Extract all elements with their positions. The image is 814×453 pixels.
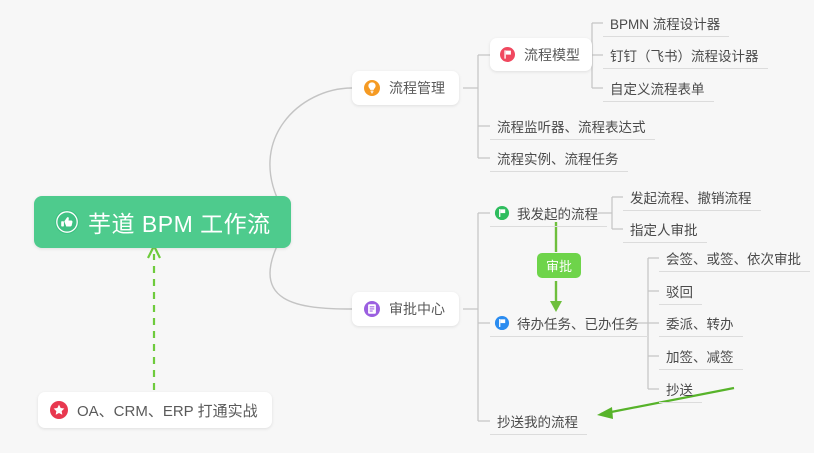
annotation-badge-label: 审批 [546, 256, 572, 275]
leaf-custom-form[interactable]: 自定义流程表单 [603, 74, 714, 102]
leaf-label: 流程实例、流程任务 [497, 148, 619, 168]
branch-approval-center[interactable]: 审批中心 [352, 292, 459, 326]
leaf-label: 驳回 [666, 281, 693, 301]
leaf-countersign[interactable]: 会签、或签、依次审批 [659, 244, 810, 272]
leaf-label: 自定义流程表单 [610, 78, 705, 98]
leaf-dingtalk-designer[interactable]: 钉钉（飞书）流程设计器 [603, 41, 768, 69]
leaf-label: 加签、减签 [666, 346, 734, 366]
leaf-label: BPMN 流程设计器 [610, 13, 720, 33]
leaf-label: 委派、转办 [666, 313, 734, 333]
leaf-start-cancel[interactable]: 发起流程、撤销流程 [623, 183, 761, 211]
bottom-note-label: OA、CRM、ERP 打通实战 [77, 400, 258, 421]
leaf-label: 流程监听器、流程表达式 [497, 116, 646, 136]
node-label: 我发起的流程 [517, 203, 598, 223]
branch-label: 流程管理 [389, 78, 445, 98]
node-label: 流程模型 [524, 45, 580, 65]
node-label: 待办任务、已办任务 [517, 313, 639, 333]
leaf-label: 会签、或签、依次审批 [666, 248, 801, 268]
wire-root-to-process-management [270, 88, 352, 208]
doc-purple-icon [363, 300, 381, 318]
leaf-reject[interactable]: 驳回 [659, 277, 702, 305]
leaf-process-instance[interactable]: 流程实例、流程任务 [490, 144, 628, 172]
lightbulb-icon [363, 79, 381, 97]
flag-blue-icon [494, 315, 510, 331]
flag-red-icon [499, 46, 516, 63]
leaf-bpmn-designer[interactable]: BPMN 流程设计器 [603, 9, 729, 37]
bottom-note-node[interactable]: OA、CRM、ERP 打通实战 [38, 392, 272, 428]
node-my-started[interactable]: 我发起的流程 [490, 199, 607, 227]
leaf-cc[interactable]: 抄送 [659, 375, 702, 403]
leaf-label: 指定人审批 [630, 219, 698, 239]
root-label: 芋道 BPM 工作流 [88, 205, 271, 239]
node-process-model[interactable]: 流程模型 [490, 38, 592, 71]
leaf-label: 抄送 [666, 379, 693, 399]
leaf-process-listener[interactable]: 流程监听器、流程表达式 [490, 112, 655, 140]
node-todo-done[interactable]: 待办任务、已办任务 [490, 309, 648, 337]
flag-green-icon [494, 205, 510, 221]
root-node[interactable]: 芋道 BPM 工作流 [34, 196, 291, 248]
mindmap-canvas: 芋道 BPM 工作流 OA、CRM、ERP 打通实战 流程管理 [0, 0, 814, 453]
leaf-label: 抄送我的流程 [497, 411, 578, 431]
leaf-label: 发起流程、撤销流程 [630, 187, 752, 207]
thumbs-up-icon [54, 209, 80, 235]
leaf-cc-to-me[interactable]: 抄送我的流程 [490, 407, 587, 435]
annotation-arrow-cc-head [597, 407, 613, 419]
branch-process-management[interactable]: 流程管理 [352, 71, 459, 105]
leaf-delegate[interactable]: 委派、转办 [659, 309, 743, 337]
leaf-add-remove-sign[interactable]: 加签、减签 [659, 342, 743, 370]
annotation-badge: 审批 [537, 253, 581, 278]
leaf-label: 钉钉（飞书）流程设计器 [610, 45, 759, 65]
branch-label: 审批中心 [389, 299, 445, 319]
leaf-assignee-approve[interactable]: 指定人审批 [623, 215, 707, 243]
star-icon [49, 400, 69, 420]
